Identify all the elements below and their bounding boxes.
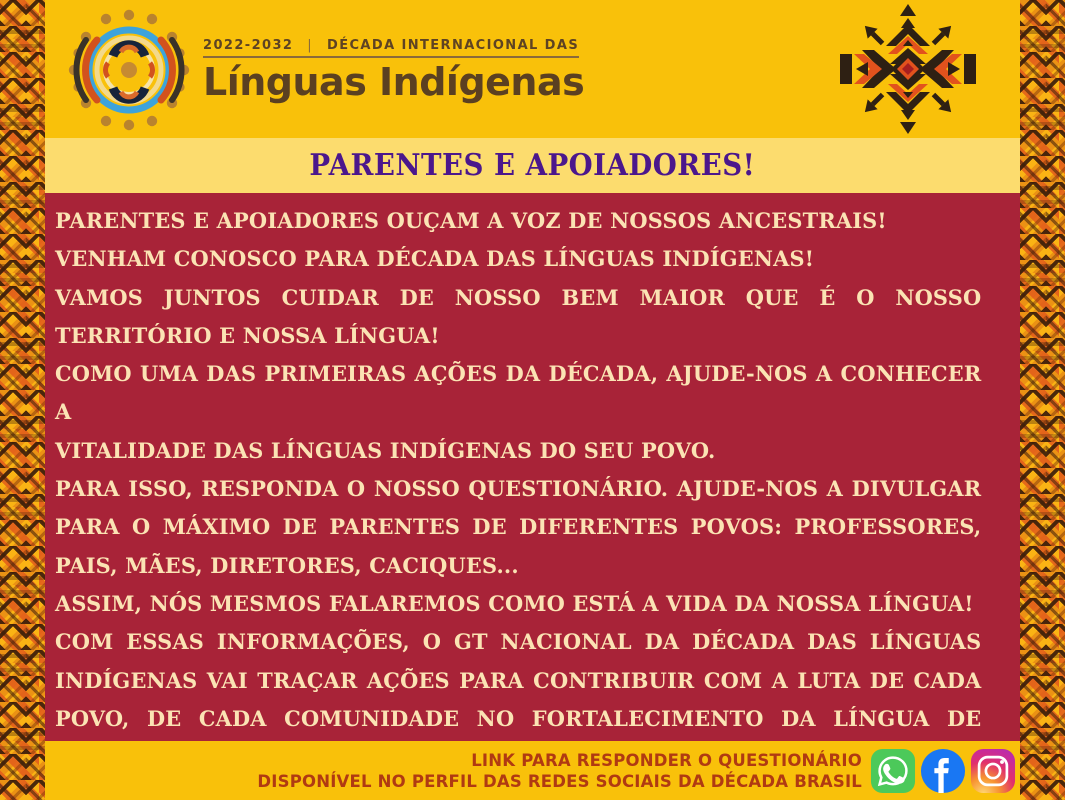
poster: 2022-2032 | DÉCADA INTERNACIONAL DAS Lín… [0, 0, 1065, 800]
indigenous-geometric-star-motif [822, 2, 994, 136]
body-line: INDÍGENAS VAI TRAÇAR AÇÕES PARA CONTRIBU… [55, 663, 981, 701]
body-line: VENHAM CONOSCO PARA DÉCADA DAS LÍNGUAS I… [55, 241, 981, 279]
body-line: PARA O MÁXIMO DE PARENTES DE DIFERENTES … [55, 509, 981, 547]
body-line: TERRITÓRIO E NOSSA LÍNGUA! [55, 318, 981, 356]
body-line: PAIS, MÃES, DIRETORES, CACIQUES... [55, 548, 981, 586]
page-title: PARENTES E APOIADORES! [310, 148, 756, 183]
footer: LINK PARA RESPONDER O QUESTIONÁRIO DISPO… [45, 741, 1020, 800]
body-line: COM ESSAS INFORMAÇÕES, O GT NACIONAL DA … [55, 624, 981, 662]
footer-line-1: LINK PARA RESPONDER O QUESTIONÁRIO [257, 750, 862, 771]
logo-kicker-text: DÉCADA INTERNACIONAL DAS [327, 38, 579, 53]
footer-line-2: DISPONÍVEL NO PERFIL DAS REDES SOCIAIS D… [257, 771, 862, 792]
woven-border-left [0, 0, 45, 800]
whatsapp-icon[interactable] [870, 748, 916, 794]
body-message-block: PARENTES E APOIADORES OUÇAM A VOZ DE NOS… [45, 193, 1020, 741]
logo-text-block: 2022-2032 | DÉCADA INTERNACIONAL DAS Lín… [203, 36, 584, 104]
woven-border-left-overlay [0, 0, 45, 800]
body-line: VITALIDADE DAS LÍNGUAS INDÍGENAS DO SEU … [55, 433, 981, 471]
footer-text: LINK PARA RESPONDER O QUESTIONÁRIO DISPO… [257, 750, 862, 792]
social-links [870, 748, 1016, 794]
indigenous-languages-decade-emblem [65, 6, 193, 134]
body-line: ASSIM, NÓS MESMOS FALAREMOS COMO ESTÁ A … [55, 586, 981, 624]
body-line: PARA ISSO, RESPONDA O NOSSO QUESTIONÁRIO… [55, 471, 981, 509]
logo-kicker-separator: | [299, 38, 321, 53]
facebook-icon[interactable] [920, 748, 966, 794]
body-line: COMO UMA DAS PRIMEIRAS AÇÕES DA DÉCADA, … [55, 356, 981, 433]
logo-kicker: 2022-2032 | DÉCADA INTERNACIONAL DAS [203, 38, 579, 58]
woven-border-right [1020, 0, 1065, 800]
body-lines-container: PARENTES E APOIADORES OUÇAM A VOZ DE NOS… [55, 203, 1010, 777]
body-line: POVO, DE CADA COMUNIDADE NO FORTALECIMEN… [55, 701, 981, 739]
body-line: PARENTES E APOIADORES OUÇAM A VOZ DE NOS… [55, 203, 981, 241]
title-band: PARENTES E APOIADORES! [45, 138, 1020, 193]
woven-border-right-overlay [1020, 0, 1065, 800]
body-line: VAMOS JUNTOS CUIDAR DE NOSSO BEM MAIOR Q… [55, 280, 981, 318]
instagram-icon[interactable] [970, 748, 1016, 794]
logo-main-title: Línguas Indígenas [203, 60, 584, 104]
logo-kicker-years: 2022-2032 [203, 38, 293, 53]
header: 2022-2032 | DÉCADA INTERNACIONAL DAS Lín… [45, 0, 1020, 138]
